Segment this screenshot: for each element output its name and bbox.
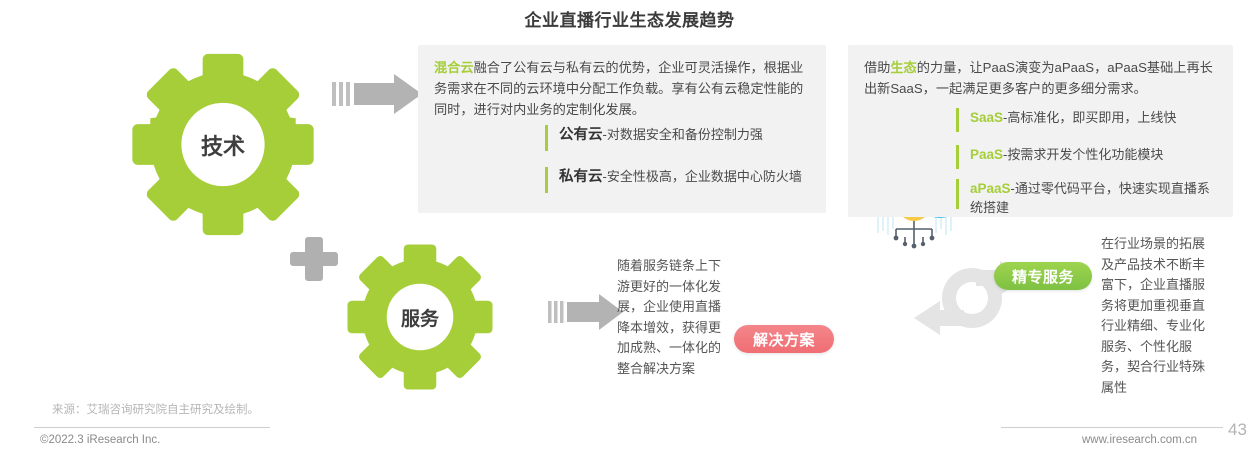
list-item: aPaaS-通过零代码平台，快速实现直播系统搭建 — [956, 179, 1218, 209]
panel-hybrid-cloud: 混合云融合了公有云与私有云的优势，企业可灵活操作，根据业务需求在不同的云环境中分… — [418, 45, 826, 213]
list-item-desc: 高标准化，即买即用，上线快 — [1007, 110, 1176, 125]
page-number: 43 — [1228, 420, 1247, 440]
paragraph-pre: 借助 — [864, 60, 890, 75]
arrow-right-icon — [332, 72, 424, 116]
list-item-key: 私有云 — [559, 169, 603, 185]
slide-canvas: 企业直播行业生态发展趋势 技术 — [0, 0, 1259, 454]
list-item-key: PaaS — [970, 147, 1003, 162]
list-item-text: PaaS-按需求开发个性化功能模块 — [970, 145, 1163, 164]
list-item-desc: 按需求开发个性化功能模块 — [1007, 147, 1163, 162]
gear-technology: 技术 — [128, 52, 318, 237]
paragraph-body: 融合了公有云与私有云的优势，企业可灵活操作，根据业务需求在不同的云环境中分配工作… — [434, 60, 803, 117]
list-item: PaaS-按需求开发个性化功能模块 — [956, 145, 1163, 169]
list-item-text: 公有云-对数据安全和备份控制力强 — [559, 125, 763, 145]
footer-copyright: ©2022.3 iResearch Inc. — [40, 434, 160, 446]
bullet-bar — [956, 179, 959, 209]
gear-icon — [345, 243, 495, 391]
panel-ecosystem: 借助生态的力量，让PaaS演变为aPaaS，aPaaS基础上再长出新SaaS，一… — [848, 45, 1233, 217]
pill-solution[interactable]: 解决方案 — [734, 325, 834, 353]
list-item-desc: 对数据安全和备份控制力强 — [607, 127, 763, 142]
bullet-bar — [956, 108, 959, 132]
bullet-bar — [956, 145, 959, 169]
arrow-right-icon — [548, 292, 624, 332]
vertical-industry-text: 在行业场景的拓展及产品技术不断丰富下，企业直播服务将更加重视垂直行业精细、专业化… — [1101, 234, 1209, 398]
gear-icon — [128, 52, 318, 237]
footer-divider-right — [1001, 427, 1223, 428]
list-item-key: SaaS — [970, 110, 1003, 125]
panel-hybrid-cloud-paragraph: 混合云融合了公有云与私有云的优势，企业可灵活操作，根据业务需求在不同的云环境中分… — [434, 57, 814, 120]
footer-url[interactable]: www.iresearch.com.cn — [1082, 434, 1197, 446]
bullet-bar — [545, 125, 548, 151]
source-note: 来源：艾瑞咨询研究院自主研究及绘制。 — [52, 401, 259, 417]
paragraph-body: 的力量，让PaaS演变为aPaaS，aPaaS基础上再长出新SaaS，一起满足更… — [864, 60, 1213, 96]
page-title: 企业直播行业生态发展趋势 — [0, 6, 1259, 31]
list-item: SaaS-高标准化，即买即用，上线快 — [956, 108, 1176, 132]
list-item-text: SaaS-高标准化，即买即用，上线快 — [970, 108, 1176, 127]
highlight-hybrid-cloud: 混合云 — [434, 60, 474, 75]
gear-service: 服务 — [345, 243, 495, 391]
pill-professional-service[interactable]: 精专服务 — [994, 262, 1092, 290]
list-item-key: 公有云 — [559, 127, 603, 143]
plus-icon — [288, 234, 340, 284]
service-flow-text: 随着服务链条上下游更好的一体化发展，企业使用直播降本增效，获得更加成熟、一体化的… — [617, 256, 721, 379]
footer-divider-left — [34, 427, 270, 428]
list-item-text: 私有云-安全性极高，企业数据中心防火墙 — [559, 167, 802, 187]
highlight-ecosystem: 生态 — [890, 60, 916, 75]
panel-ecosystem-paragraph: 借助生态的力量，让PaaS演变为aPaaS，aPaaS基础上再长出新SaaS，一… — [864, 57, 1221, 99]
list-item: 私有云-安全性极高，企业数据中心防火墙 — [545, 167, 802, 193]
list-item: 公有云-对数据安全和备份控制力强 — [545, 125, 763, 151]
list-item-key: aPaaS — [970, 181, 1011, 196]
bullet-bar — [545, 167, 548, 193]
list-item-desc: 安全性极高，企业数据中心防火墙 — [607, 169, 802, 184]
list-item-text: aPaaS-通过零代码平台，快速实现直播系统搭建 — [970, 179, 1218, 217]
